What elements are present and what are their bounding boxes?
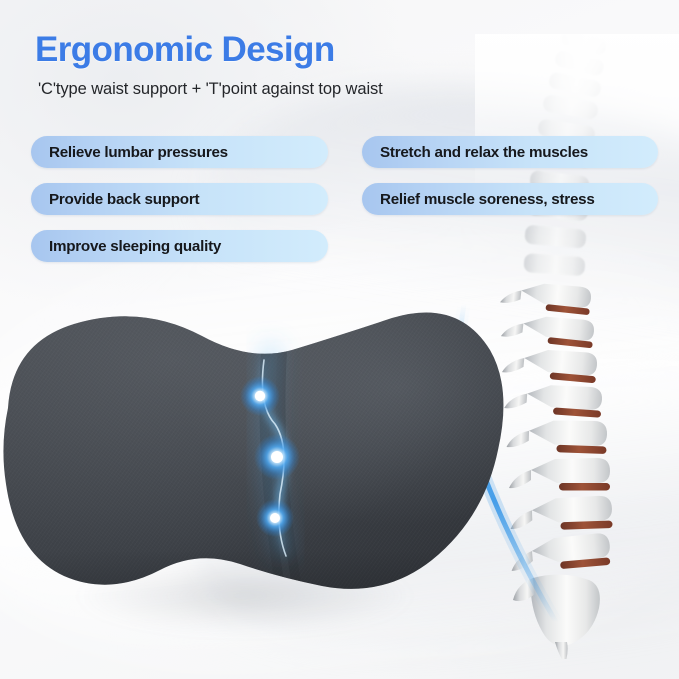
page-title: Ergonomic Design bbox=[35, 32, 505, 69]
benefit-pill-relief-muscle-soreness-stress[interactable]: Relief muscle soreness, stress bbox=[362, 183, 658, 215]
benefit-label: Relieve lumbar pressures bbox=[49, 144, 228, 161]
benefit-pill-stretch-and-relax-the-muscles[interactable]: Stretch and relax the muscles bbox=[362, 136, 658, 168]
page-subtitle: 'C'type waist support + 'T'point against… bbox=[38, 80, 505, 99]
benefit-label: Stretch and relax the muscles bbox=[380, 144, 588, 161]
benefit-pill-provide-back-support[interactable]: Provide back support bbox=[31, 183, 328, 215]
benefit-label: Relief muscle soreness, stress bbox=[380, 191, 595, 208]
benefit-label: Provide back support bbox=[49, 191, 199, 208]
benefit-label: Improve sleeping quality bbox=[49, 238, 221, 255]
product-feature-poster: Ergonomic Design 'C'type waist support +… bbox=[0, 0, 679, 679]
benefit-list-right: Stretch and relax the muscles Relief mus… bbox=[362, 136, 658, 230]
benefit-pill-improve-sleeping-quality[interactable]: Improve sleeping quality bbox=[31, 230, 328, 262]
benefit-pill-relieve-lumbar-pressures[interactable]: Relieve lumbar pressures bbox=[31, 136, 328, 168]
memory-foam-pillow bbox=[0, 288, 512, 618]
benefit-list-left: Relieve lumbar pressures Provide back su… bbox=[31, 136, 328, 277]
header-block: Ergonomic Design 'C'type waist support +… bbox=[35, 32, 505, 99]
